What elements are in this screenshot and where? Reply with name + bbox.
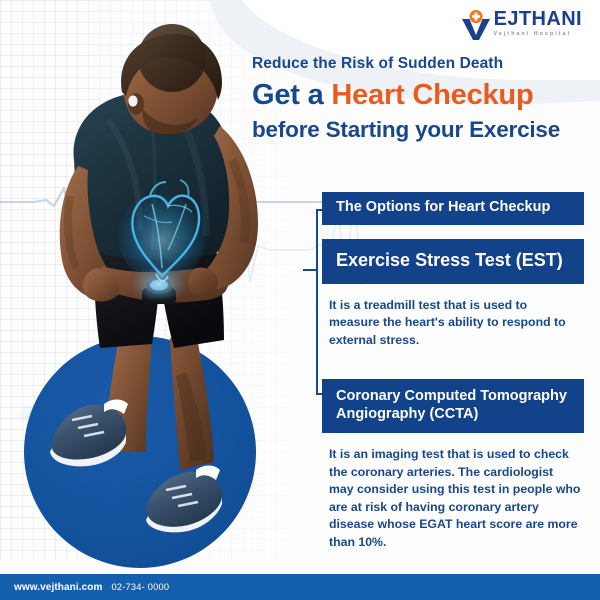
poster-root: EJTHANI Vejthani Hospital Reduce the Ris… xyxy=(0,0,600,600)
options-panel: The Options for Heart Checkup Exercise S… xyxy=(322,192,584,551)
headline-block: Reduce the Risk of Sudden Death Get a He… xyxy=(252,55,596,142)
footer-bar: www.vejthani.com 02-734- 0000 xyxy=(0,574,600,600)
headline-main: Get a Heart Checkup xyxy=(252,80,596,111)
running-shoe-left xyxy=(50,400,128,467)
option-body-est: It is a treadmill test that is used to m… xyxy=(329,297,581,349)
headline-subline: before Starting your Exercise xyxy=(252,117,596,142)
headline-main-accent: Heart Checkup xyxy=(331,79,533,111)
panel-spacer xyxy=(322,349,584,379)
option-bar-ccta[interactable]: Coronary Computed Tomography Angiography… xyxy=(322,379,584,433)
options-header-bar[interactable]: The Options for Heart Checkup xyxy=(322,192,584,225)
footer-phone[interactable]: 02-734- 0000 xyxy=(111,582,169,592)
vejthani-logo[interactable]: EJTHANI Vejthani Hospital xyxy=(459,9,582,41)
option-body-ccta: It is an imaging test that is used to ch… xyxy=(329,446,581,551)
option-bar-est[interactable]: Exercise Stress Test (EST) xyxy=(322,239,584,284)
logo-mark-icon xyxy=(459,9,493,41)
running-shoe-right xyxy=(146,466,222,533)
headline-kicker: Reduce the Risk of Sudden Death xyxy=(252,55,596,74)
logo-wordmark: EJTHANI xyxy=(494,9,582,29)
headline-main-prefix: Get a xyxy=(252,79,331,111)
logo-tagline: Vejthani Hospital xyxy=(494,31,582,37)
footer-website[interactable]: www.vejthani.com xyxy=(14,582,102,593)
